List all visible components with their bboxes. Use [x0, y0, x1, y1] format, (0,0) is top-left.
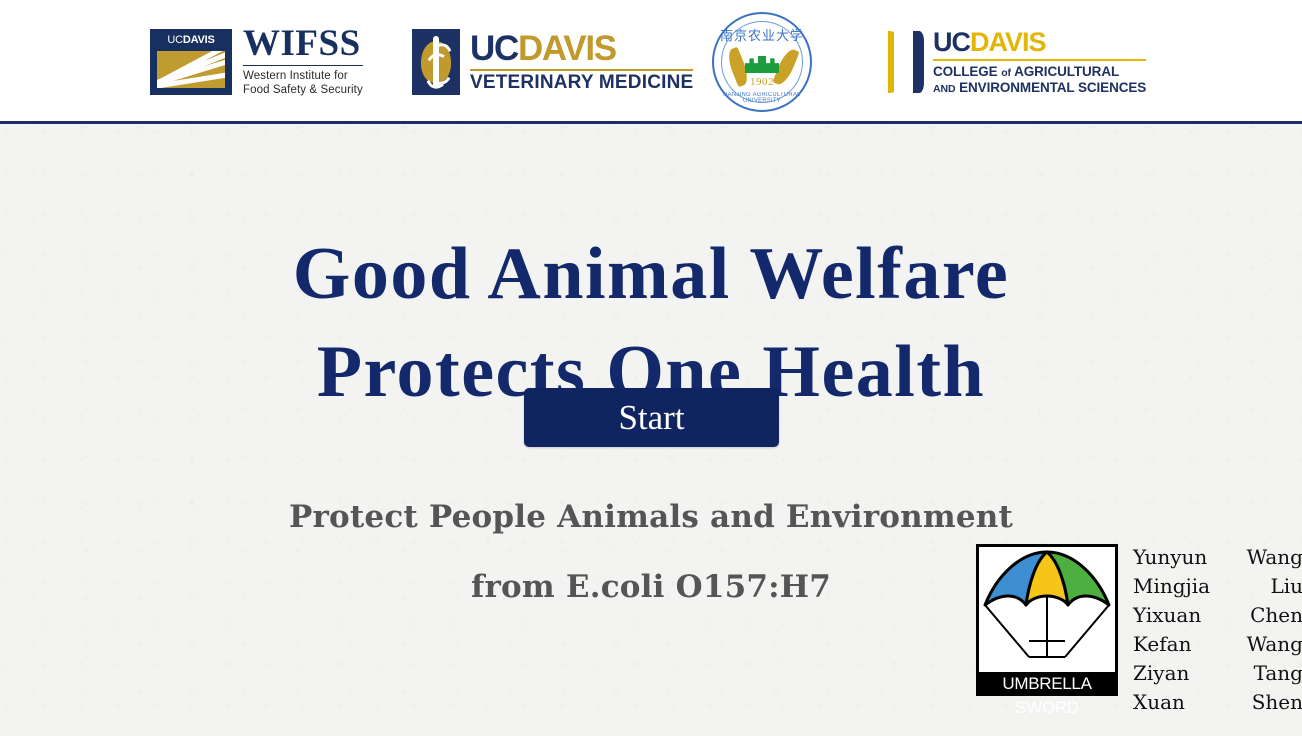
author-row: Yunyun Wang [1133, 543, 1302, 572]
author-row: Yixuan Chen [1133, 601, 1302, 630]
author-row: Xuan Shen [1133, 688, 1302, 717]
page-title-line-1: Good Animal Welfare [0, 225, 1302, 323]
logo-uc-davis-veterinary-medicine: UCDAVIS VETERINARY MEDICINE [412, 0, 693, 124]
nanjing-chinese-name: 南京农业大学 [714, 25, 810, 44]
wifss-acronym: WIFSS [243, 26, 363, 66]
author-last-name: Liu [1270, 572, 1302, 601]
wifss-subtitle-line1: Western Institute for [243, 70, 348, 82]
author-last-name: Chen [1250, 601, 1302, 630]
slide-root: UCDAVIS WIFSS Western Institute for Food… [0, 0, 1302, 736]
vetmed-department-label: VETERINARY MEDICINE [470, 73, 693, 92]
team-logo-umbrella-sword: UMBRELLA SWORD [976, 544, 1118, 696]
vetmed-text-block: UCDAVIS VETERINARY MEDICINE [470, 32, 693, 91]
caes-divider [933, 59, 1146, 61]
author-first-name: Kefan [1133, 630, 1191, 659]
author-first-name: Mingjia [1133, 572, 1210, 601]
wifss-subtitle-line2: Food Safety & Security [243, 84, 363, 96]
umbrella-canopy-icon [983, 549, 1111, 611]
nanjing-founding-year: 1902 [714, 76, 810, 88]
vetmed-ucdavis-wordmark: UCDAVIS [470, 32, 693, 65]
author-row: Mingjia Liu [1133, 572, 1302, 601]
uc-davis-wifss-mark-icon: UCDAVIS [150, 29, 232, 95]
author-first-name: Xuan [1133, 688, 1185, 717]
caes-college-line1: COLLEGE of AGRICULTURAL [933, 64, 1146, 80]
wifss-ucdavis-wordmark: UCDAVIS [153, 32, 229, 49]
author-row: Ziyan Tang [1133, 659, 1302, 688]
start-button[interactable]: Start [524, 388, 779, 447]
author-last-name: Wang [1247, 630, 1302, 659]
caduceus-icon [412, 29, 460, 95]
header-logo-bar: UCDAVIS WIFSS Western Institute for Food… [0, 0, 1302, 124]
author-last-name: Wang [1247, 543, 1302, 572]
caes-college-line2: AND ENVIRONMENTAL SCIENCES [933, 80, 1146, 96]
author-first-name: Ziyan [1133, 659, 1189, 688]
author-first-name: Yunyun [1133, 543, 1207, 572]
wifss-field-rays-icon [157, 51, 225, 88]
author-row: Kefan Wang [1133, 630, 1302, 659]
nanjing-ring-text: NANJING AGRICULTURAL UNIVERSITY [716, 92, 807, 104]
caes-crescent-icon [888, 31, 924, 93]
logo-nanjing-agricultural-university: 南京农业大学 1902 NANJING AGRICULTURAL UNIVERS… [712, 0, 812, 124]
team-logo-label: UMBRELLA SWORD [976, 672, 1118, 696]
author-last-name: Tang [1254, 659, 1302, 688]
caes-text-block: UCDAVIS COLLEGE of AGRICULTURAL AND ENVI… [933, 29, 1146, 96]
caes-ucdavis-wordmark: UCDAVIS [933, 29, 1146, 56]
wifss-text-block: WIFSS Western Institute for Food Safety … [243, 26, 363, 97]
logo-uc-davis-wifss: UCDAVIS WIFSS Western Institute for Food… [150, 0, 363, 124]
author-list: Yunyun Wang Mingjia Liu Yixuan Chen Kefa… [1133, 543, 1302, 717]
vetmed-divider [470, 69, 693, 71]
page-subtitle-line-1: Protect People Animals and Environment [0, 483, 1302, 553]
logo-uc-davis-caes: UCDAVIS COLLEGE of AGRICULTURAL AND ENVI… [888, 0, 1146, 124]
author-first-name: Yixuan [1133, 601, 1201, 630]
wifss-subtitle: Western Institute for Food Safety & Secu… [243, 69, 363, 98]
nanjing-university-seal-icon: 南京农业大学 1902 NANJING AGRICULTURAL UNIVERS… [712, 12, 812, 112]
author-last-name: Shen [1252, 688, 1302, 717]
